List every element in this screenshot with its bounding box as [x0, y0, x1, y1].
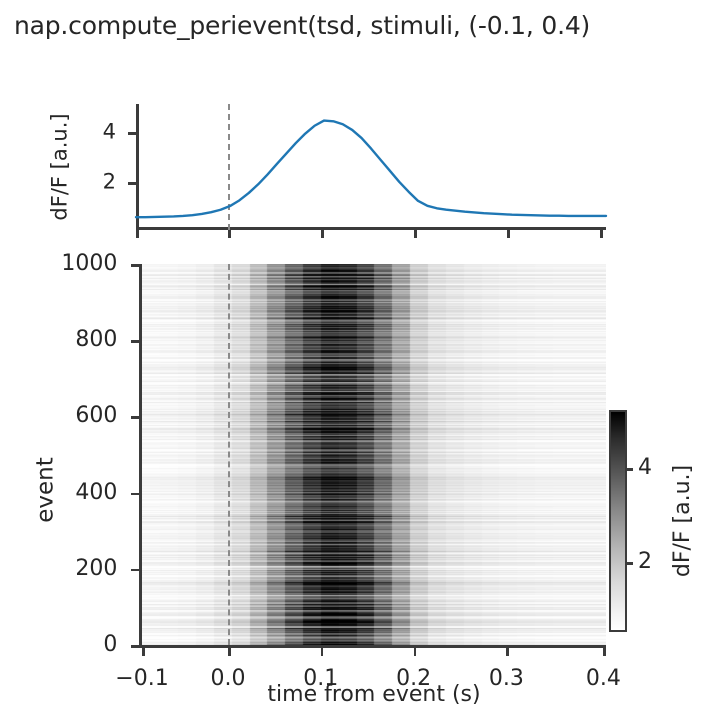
heatmap-event-onset-line — [228, 264, 230, 645]
heatmap-bottom-spine — [139, 645, 606, 648]
page-title: nap.compute_perievent(tsd, stimuli, (-0.… — [14, 10, 590, 42]
top-panel-ytick-4: 4 — [128, 132, 136, 135]
heatmap-x-axis-label: time from event (s) — [267, 684, 480, 706]
top-panel-xtick-0.0 — [228, 230, 231, 238]
heatmap-ytick-0: 0 — [131, 645, 139, 648]
heatmap-xticklabel-0.0: 0.0 — [211, 668, 246, 690]
top-panel-xtick-0.2 — [414, 230, 417, 238]
heatmap-xtick-0.1: 0.1 — [321, 648, 324, 656]
figure-canvas: nap.compute_perievent(tsd, stimuli, (-0.… — [0, 0, 724, 722]
heatmap-yticklabel-200: 200 — [75, 558, 117, 580]
heatmap-yticklabel-0: 0 — [103, 634, 117, 656]
heatmap-xticklabel-0.4: 0.4 — [586, 668, 621, 690]
colorbar-label: dF/F [a.u.] — [672, 465, 694, 577]
colorbar-ticklabel-4: 4 — [638, 457, 652, 479]
colorbar: 4 2 — [609, 410, 627, 632]
heatmap-xticklabel-0.2: 0.2 — [396, 668, 431, 690]
top-panel-y-axis-label: dF/F [a.u.] — [50, 113, 71, 220]
colorbar-tick-4 — [625, 468, 633, 471]
heatmap-y-axis-label: event — [35, 457, 58, 523]
heatmap-ytick-400: 400 — [131, 493, 139, 496]
perievent-heatmap-panel: 1000 800 600 400 200 0 −0.1 0.0 0.1 0.2 — [142, 264, 606, 645]
top-panel-xtick-0.3 — [507, 230, 510, 238]
colorbar-tick-2 — [625, 562, 633, 565]
heatmap-image — [142, 264, 606, 645]
heatmap-yticklabel-1000: 1000 — [61, 253, 117, 275]
mean-trace-line — [136, 104, 606, 230]
top-panel-yticklabel-4: 4 — [103, 122, 116, 143]
heatmap-xtick-0.2: 0.2 — [414, 648, 417, 656]
heatmap-xticklabel-0.1: 0.1 — [303, 668, 338, 690]
heatmap-xticklabel-0.3: 0.3 — [489, 668, 524, 690]
heatmap-yticklabel-800: 800 — [75, 329, 117, 351]
heatmap-yticklabel-600: 600 — [75, 405, 117, 427]
heatmap-left-spine — [139, 264, 142, 645]
heatmap-xtick-0.3: 0.3 — [506, 648, 509, 656]
heatmap-yticklabel-400: 400 — [75, 482, 117, 504]
top-panel-xtick-0.4 — [600, 230, 603, 238]
top-panel-xtick-minus0.1 — [136, 230, 139, 238]
colorbar-ticklabel-2: 2 — [638, 551, 652, 573]
heatmap-xticklabel-minus0.1: −0.1 — [115, 668, 168, 690]
top-panel-xtick-0.1 — [321, 230, 324, 238]
mean-trace-panel: 4 2 — [136, 104, 606, 230]
heatmap-ytick-800: 800 — [131, 340, 139, 343]
heatmap-xtick-minus0.1: −0.1 — [142, 648, 145, 656]
heatmap-ytick-1000: 1000 — [131, 264, 139, 267]
top-panel-yticklabel-2: 2 — [103, 172, 116, 193]
heatmap-ytick-600: 600 — [131, 416, 139, 419]
heatmap-xtick-0.4: 0.4 — [603, 648, 606, 656]
top-panel-ytick-2: 2 — [128, 182, 136, 185]
heatmap-xtick-0.0: 0.0 — [228, 648, 231, 656]
heatmap-ytick-200: 200 — [131, 569, 139, 572]
